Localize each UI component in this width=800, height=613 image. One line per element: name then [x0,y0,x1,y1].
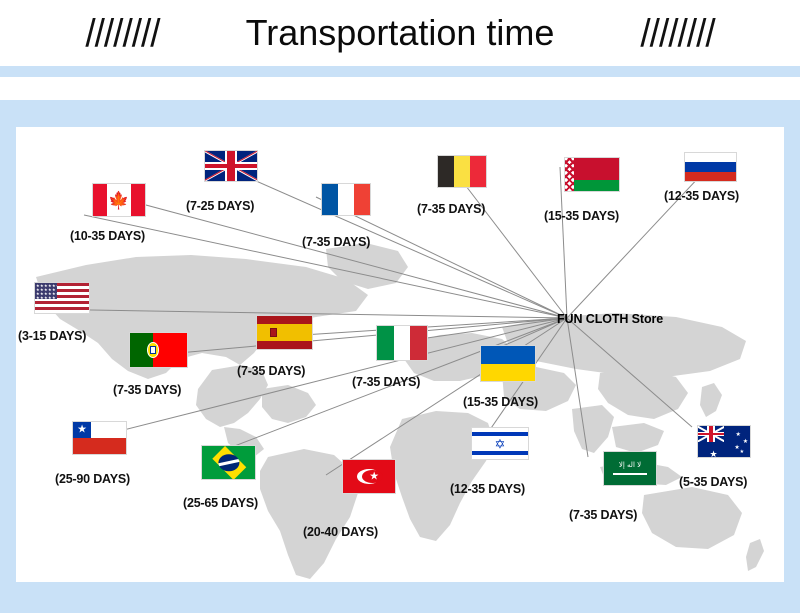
decorative-slashes-right: //////// [640,14,714,53]
usa-flag: ★★★★★★★★★★★★★★★★★★★★★★ [34,282,90,314]
spain-days-label: (7-35 DAYS) [237,364,305,378]
uk-days-label: (7-25 DAYS) [186,199,254,213]
portugal-flag [129,332,188,368]
turkey-flag: ★ [342,459,396,494]
chile-flag: ★ [72,421,127,455]
turkey-days-label: (20-40 DAYS) [303,525,378,539]
australia-flag: ★ ★ ★ ★ ★ [697,425,751,458]
ukraine-days-label: (15-35 DAYS) [463,395,538,409]
brazil-flag [201,445,256,480]
brazil-days-label: (25-65 DAYS) [183,496,258,510]
russia-flag [684,152,737,182]
ukraine-flag [480,345,536,382]
canada-flag: 🍁 [92,183,146,217]
belarus-flag [564,157,620,192]
shipping-map-panel: FUN CLOTH Store 🍁 (10-35 DAYS) (7-25 DAY… [16,127,784,582]
header-divider-rule [0,66,800,77]
uk-flag [204,150,258,182]
russia-days-label: (12-35 DAYS) [664,189,739,203]
israel-flag: ✡ [471,427,529,460]
belgium-flag [437,155,487,188]
france-days-label: (7-35 DAYS) [302,235,370,249]
usa-days-label: (3-15 DAYS) [18,329,86,343]
belgium-days-label: (7-35 DAYS) [417,202,485,216]
israel-days-label: (12-35 DAYS) [450,482,525,496]
france-flag [321,183,371,216]
belarus-days-label: (15-35 DAYS) [544,209,619,223]
canada-days-label: (10-35 DAYS) [70,229,145,243]
saudi-arabia-flag: لا اله إلا [603,451,657,486]
page-title: Transportation time [246,15,555,51]
header-spacer [0,77,800,100]
spain-flag [256,315,313,350]
portugal-days-label: (7-35 DAYS) [113,383,181,397]
australia-days-label: (5-35 DAYS) [679,475,747,489]
hub-store-label: FUN CLOTH Store [557,312,663,326]
italy-flag [376,325,428,361]
saudi-arabia-days-label: (7-35 DAYS) [569,508,637,522]
page-header: //////// Transportation time //////// [0,0,800,66]
chile-days-label: (25-90 DAYS) [55,472,130,486]
italy-days-label: (7-35 DAYS) [352,375,420,389]
decorative-slashes-left: //////// [85,14,159,53]
